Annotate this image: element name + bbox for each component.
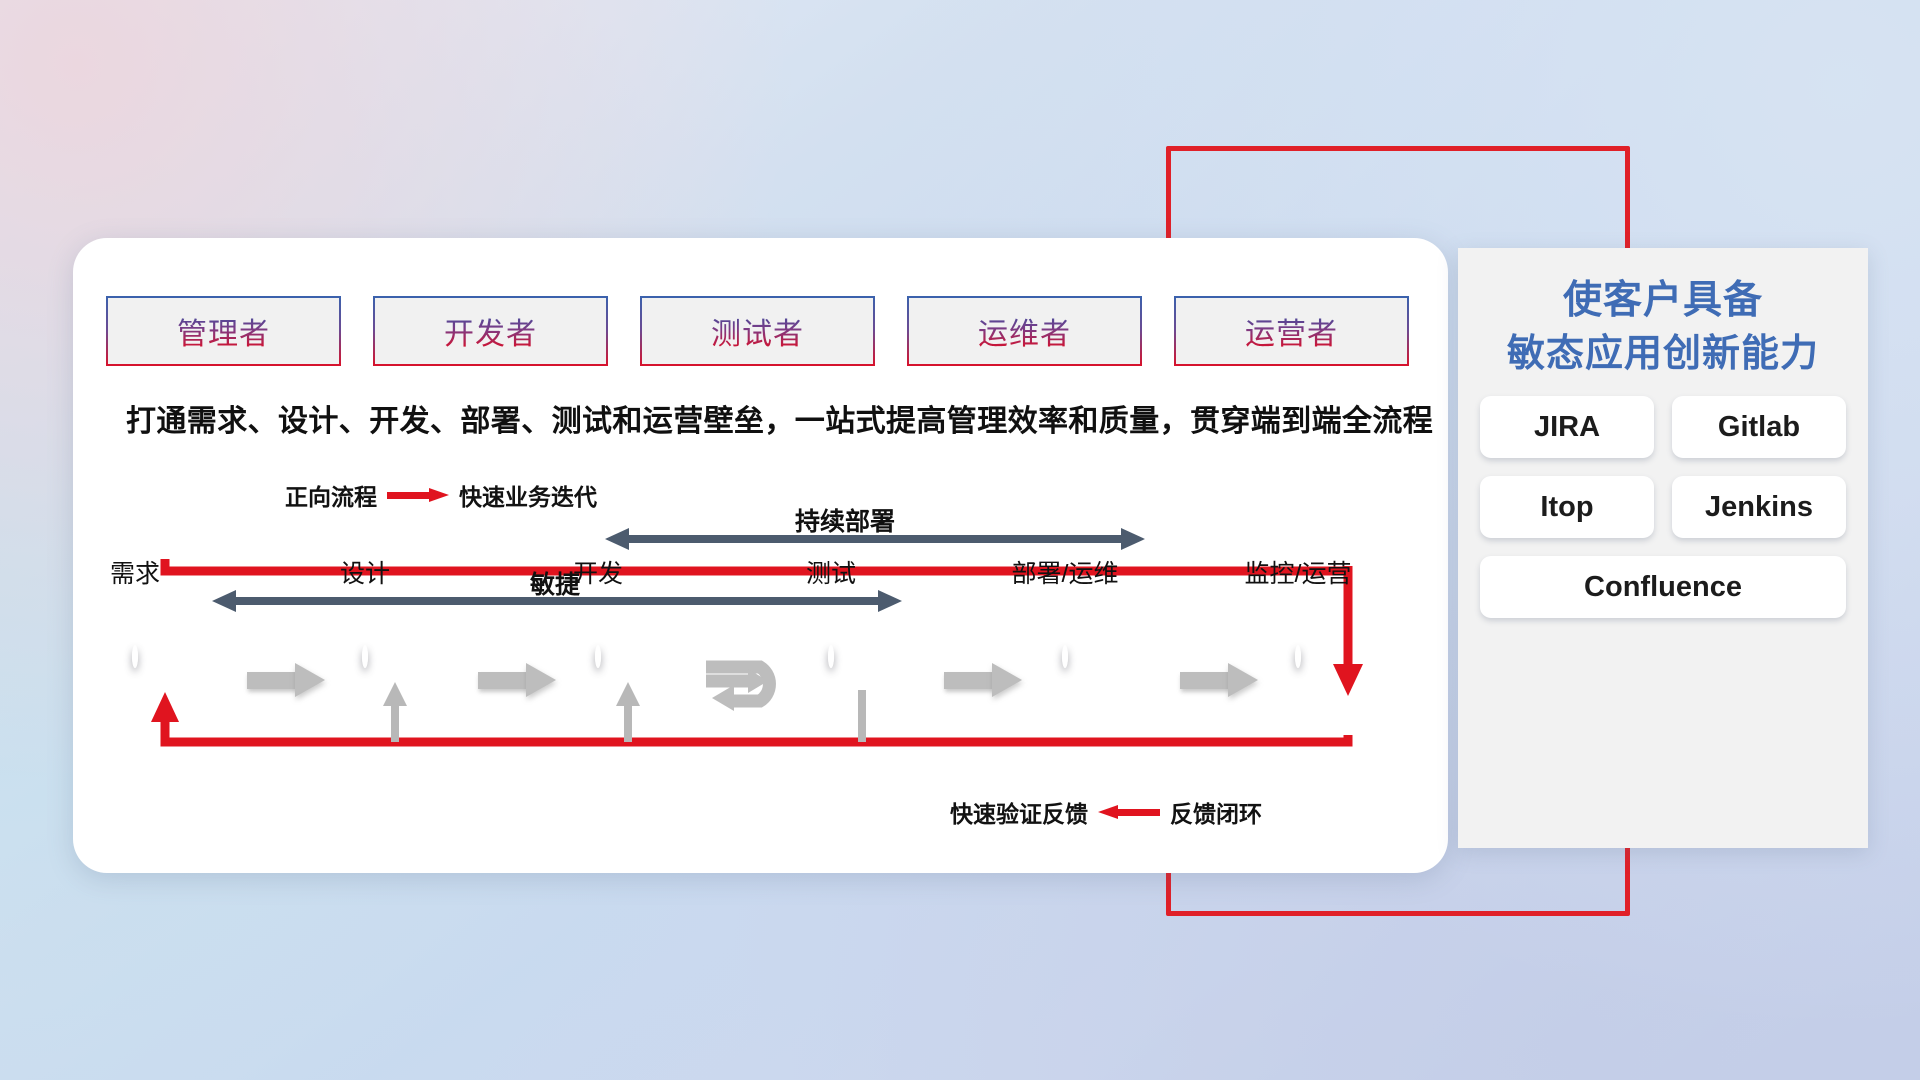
- pipeline-stage-design[interactable]: 设计: [362, 648, 368, 666]
- stage-dot: [828, 645, 834, 668]
- flow-arrow-3-icon: [944, 663, 1022, 697]
- arrow-shaft: [944, 672, 994, 689]
- devops-pipeline: 需求 设计 开发 测试: [0, 0, 1920, 1080]
- stage-label: 测试: [806, 554, 856, 590]
- flow-arrow-2-icon: [478, 663, 556, 697]
- pipeline-stage-development[interactable]: 开发: [595, 648, 601, 666]
- arrow-head: [295, 663, 325, 697]
- stage-dot: [362, 645, 368, 668]
- arrow-head: [1228, 663, 1258, 697]
- slide-canvas: 管理者 开发者 测试者 运维者 运营者 打通需求、设计、开发、部署、测试和运营壁…: [0, 0, 1920, 1080]
- arrow-shaft: [1180, 672, 1230, 689]
- pipeline-stage-requirements[interactable]: 需求: [132, 648, 138, 666]
- flow-arrow-4-icon: [1180, 663, 1258, 697]
- stage-label: 监控/运营: [1245, 554, 1352, 590]
- arrow-shaft: [478, 672, 528, 689]
- arrow-shaft: [247, 672, 297, 689]
- stage-dot: [595, 645, 601, 668]
- pipeline-stage-monitor-operate[interactable]: 监控/运营: [1295, 648, 1301, 666]
- arrow-head: [992, 663, 1022, 697]
- stage-label: 开发: [573, 554, 623, 590]
- flow-arrow-1-icon: [247, 663, 325, 697]
- rework-loop-arrow-icon: [700, 655, 810, 730]
- stage-dot: [1295, 645, 1301, 668]
- stage-dot: [1062, 645, 1068, 668]
- pipeline-stage-deploy-ops[interactable]: 部署/运维: [1062, 648, 1068, 666]
- stage-dot: [132, 645, 138, 668]
- stage-label: 部署/运维: [1012, 554, 1119, 590]
- stage-label: 需求: [110, 554, 160, 590]
- pipeline-stage-testing[interactable]: 测试: [828, 648, 834, 666]
- arrow-head: [526, 663, 556, 697]
- stage-label: 设计: [340, 554, 390, 590]
